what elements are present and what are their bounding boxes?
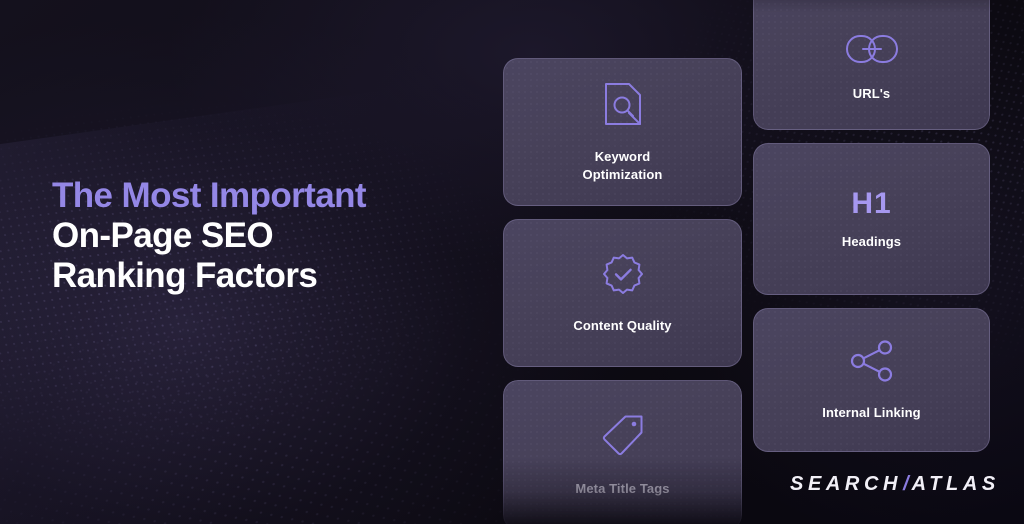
- page-title: The Most Important On-Page SEO Ranking F…: [52, 176, 482, 296]
- card-headings[interactable]: H1 Headings: [753, 143, 990, 295]
- card-label-internal-linking: Internal Linking: [822, 404, 920, 422]
- headline-line-1: The Most Important: [52, 176, 482, 216]
- document-search-icon: [603, 81, 643, 132]
- card-content-quality[interactable]: Content Quality: [503, 219, 742, 367]
- card-urls[interactable]: URL's: [753, 0, 990, 130]
- card-label-headings: Headings: [842, 233, 901, 251]
- card-label-urls: URL's: [853, 85, 891, 103]
- background-glow-sweep: [0, 79, 533, 524]
- headline-line-3: Ranking Factors: [52, 256, 482, 296]
- right-card-column: URL's H1 Headings Internal Linking: [753, 0, 990, 465]
- card-keyword-optimization[interactable]: Keyword Optimization: [503, 58, 742, 206]
- link-chain-icon: [845, 34, 899, 69]
- infographic-canvas: The Most Important On-Page SEO Ranking F…: [0, 0, 1024, 524]
- share-network-icon: [849, 339, 895, 388]
- card-label-meta-title-tags: Meta Title Tags: [575, 480, 669, 498]
- verified-badge-icon: [601, 252, 645, 301]
- card-label-line-1: Keyword: [595, 149, 651, 164]
- logo-word-search: SEARCH: [790, 473, 902, 496]
- card-label-keyword-optimization: Keyword Optimization: [583, 148, 663, 183]
- h1-text-icon: H1: [851, 187, 891, 221]
- logo-word-atlas: ATLAS: [912, 473, 1000, 496]
- searchatlas-logo: SEARCH / ATLAS: [790, 473, 1000, 496]
- middle-card-column: Keyword Optimization Content Quality Met…: [503, 58, 742, 524]
- headline-line-2: On-Page SEO: [52, 216, 482, 256]
- card-label-content-quality: Content Quality: [573, 317, 671, 335]
- card-internal-linking[interactable]: Internal Linking: [753, 308, 990, 452]
- price-tag-icon: [600, 413, 646, 464]
- card-meta-title-tags[interactable]: Meta Title Tags: [503, 380, 742, 524]
- card-label-line-2: Optimization: [583, 167, 663, 182]
- logo-separator-slash: /: [902, 473, 912, 496]
